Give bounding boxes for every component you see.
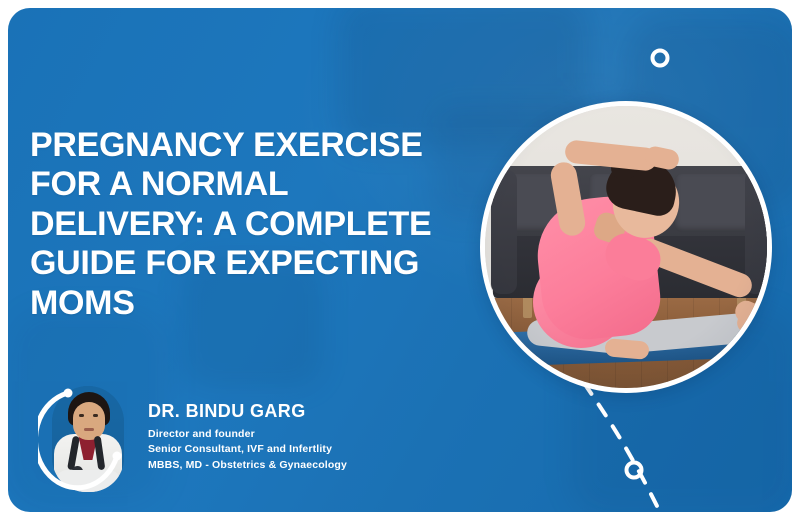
hero-photo-ring	[480, 101, 772, 393]
hero-photo	[485, 106, 767, 388]
author-credential-specialty: Senior Consultant, IVF and Infertlity	[148, 442, 347, 457]
blog-header-banner: Pregnancy Exercise for a Normal Delivery…	[0, 0, 800, 520]
author-credential-degree: MBBS, MD - Obstetrics & Gynaecology	[148, 458, 347, 473]
page-title: Pregnancy Exercise for a Normal Delivery…	[30, 126, 470, 323]
author-name: DR. BINDU GARG	[148, 401, 347, 422]
author-byline: DR. BINDU GARG Director and founder Seni…	[38, 384, 347, 494]
avatar	[38, 384, 134, 494]
circle-node-bottom	[627, 463, 642, 478]
banner-card: Pregnancy Exercise for a Normal Delivery…	[8, 8, 792, 512]
exercise-scene-illustration	[485, 106, 767, 388]
pregnant-woman-figure	[485, 106, 767, 388]
dashed-arc-bottom-path	[584, 383, 658, 508]
avatar-arc-icon	[38, 384, 134, 494]
author-details: DR. BINDU GARG Director and founder Seni…	[148, 401, 347, 477]
circle-node-top	[653, 51, 668, 66]
author-credential-role: Director and founder	[148, 427, 347, 442]
